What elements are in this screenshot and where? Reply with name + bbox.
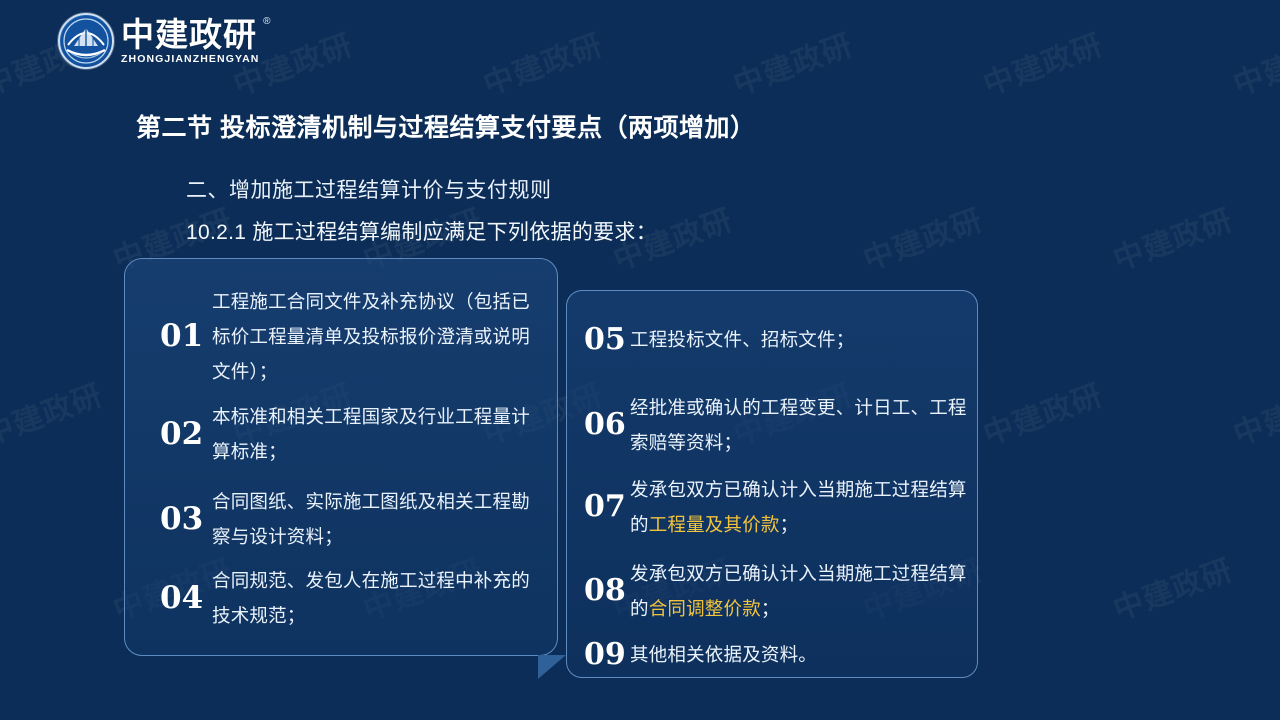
list-item-number: 05	[584, 325, 630, 355]
list-item-text: 合同规范、发包人在施工过程中补充的技术规范；	[212, 563, 540, 633]
list-item-text: 工程施工合同文件及补充协议（包括已标价工程量清单及投标报价澄清或说明文件）；	[212, 284, 540, 389]
list-item-text: 其他相关依据及资料。	[630, 637, 817, 672]
slide-root: 中建政研中建政研中建政研中建政研中建政研中建政研中建政研中建政研中建政研中建政研…	[0, 0, 1280, 720]
list-item-text: 发承包双方已确认计入当期施工过程结算的合同调整价款；	[630, 556, 978, 626]
list-item-number: 03	[160, 504, 212, 535]
list-item: 04 合同规范、发包人在施工过程中补充的技术规范；	[160, 563, 540, 633]
list-item-number: 01	[160, 321, 212, 352]
list-item: 08 发承包双方已确认计入当期施工过程结算的合同调整价款；	[584, 556, 978, 626]
section-heading: 二、增加施工过程结算计价与支付规则	[186, 174, 552, 204]
list-item-text: 合同图纸、实际施工图纸及相关工程勘察与设计资料；	[212, 484, 540, 554]
list-item-text: 发承包双方已确认计入当期施工过程结算的工程量及其价款；	[630, 472, 978, 542]
list-item-number: 04	[160, 583, 212, 614]
bridge-logo-icon	[58, 13, 114, 69]
list-item: 03 合同图纸、实际施工图纸及相关工程勘察与设计资料；	[160, 484, 540, 554]
list-item-highlight: 工程量及其价款	[649, 514, 780, 535]
list-item: 09 其他相关依据及资料。	[584, 637, 978, 672]
list-item-text: 本标准和相关工程国家及行业工程量计算标准；	[212, 399, 540, 469]
brand-logo: 中建政研 ® ZHONGJIANZHENGYAN	[58, 12, 260, 70]
list-item-text: 工程投标文件、招标文件；	[630, 322, 854, 357]
list-item: 06 经批准或确认的工程变更、计日工、工程索赔等资料；	[584, 390, 978, 460]
clause-heading: 10.2.1 施工过程结算编制应满足下列依据的要求：	[186, 216, 657, 246]
list-item: 02 本标准和相关工程国家及行业工程量计算标准；	[160, 399, 540, 469]
list-item-text-after: ；	[761, 598, 780, 619]
list-item-number: 02	[160, 419, 212, 450]
list-item-text-after: ；	[780, 514, 799, 535]
list-item: 01 工程施工合同文件及补充协议（包括已标价工程量清单及投标报价澄清或说明文件）…	[160, 284, 540, 389]
list-item-number: 09	[584, 640, 630, 670]
list-item-highlight: 合同调整价款	[649, 598, 761, 619]
list-item-number: 08	[584, 576, 630, 606]
list-item-text-before: 工程投标文件、招标文件；	[630, 329, 854, 350]
panel-pointer-tail-icon	[538, 655, 566, 679]
list-item-text-before: 经批准或确认的工程变更、计日工、工程索赔等资料；	[630, 397, 967, 453]
page-title: 第二节 投标澄清机制与过程结算支付要点（两项增加）	[136, 108, 755, 144]
logo-chinese-name: 中建政研	[121, 18, 260, 51]
list-item: 07 发承包双方已确认计入当期施工过程结算的工程量及其价款；	[584, 472, 978, 542]
list-item: 05 工程投标文件、招标文件；	[584, 322, 978, 357]
logo-pinyin-name: ZHONGJIANZHENGYAN	[121, 54, 260, 65]
logo-wordmark: 中建政研 ® ZHONGJIANZHENGYAN	[121, 18, 260, 65]
list-item-number: 06	[584, 410, 630, 440]
list-item-text: 经批准或确认的工程变更、计日工、工程索赔等资料；	[630, 390, 978, 460]
list-item-number: 07	[584, 492, 630, 522]
list-item-text-before: 其他相关依据及资料。	[630, 644, 817, 665]
registered-trademark-icon: ®	[263, 16, 270, 27]
